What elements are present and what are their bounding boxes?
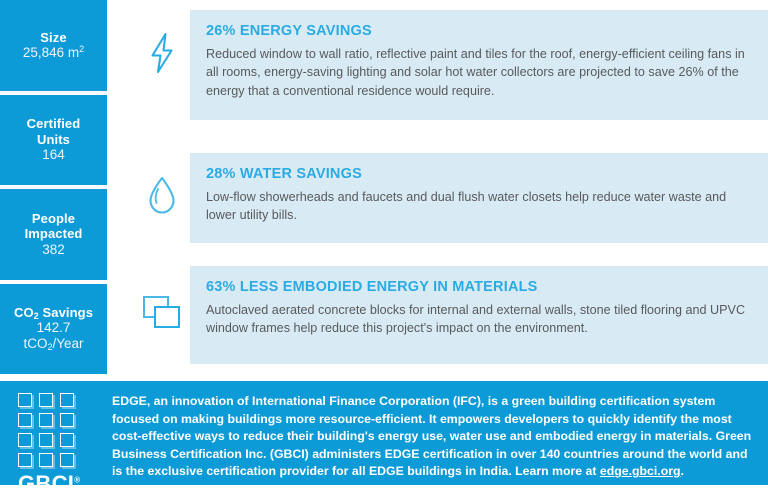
stat-value-size-base: 25,846 m bbox=[23, 45, 79, 60]
stat-tile-people-impacted: People Impacted 382 bbox=[0, 189, 107, 280]
stat-unit-co2-subscript: 2 bbox=[47, 342, 52, 352]
stat-tile-co2-savings: CO2 Savings 142.7 tCO2/Year bbox=[0, 284, 107, 375]
stat-label-co2-subscript: 2 bbox=[34, 311, 39, 321]
stat-value-size: 25,846 m2 bbox=[23, 45, 84, 61]
feature-title-water: 28% WATER SAVINGS bbox=[206, 166, 752, 182]
stat-label-co2-suffix: Savings bbox=[39, 305, 93, 320]
stacked-blocks-icon bbox=[133, 266, 190, 334]
stat-unit-co2-savings: tCO2/Year bbox=[23, 336, 83, 352]
stat-label-co2-savings: CO2 Savings bbox=[14, 305, 93, 320]
logo-cell bbox=[18, 453, 32, 467]
stat-value-people-impacted: 382 bbox=[42, 242, 65, 258]
logo-cell bbox=[39, 393, 53, 407]
feature-body-materials: Autoclaved aerated concrete blocks for i… bbox=[206, 301, 752, 338]
feature-list: 26% ENERGY SAVINGS Reduced window to wal… bbox=[133, 10, 768, 370]
logo-cell bbox=[60, 393, 74, 407]
logo-cell bbox=[18, 433, 32, 447]
logo-cell bbox=[60, 413, 74, 427]
feature-title-energy: 26% ENERGY SAVINGS bbox=[206, 23, 752, 39]
edge-gbci-org-link[interactable]: edge.gbci.org bbox=[600, 464, 681, 478]
feature-panel-water: 28% WATER SAVINGS Low-flow showerheads a… bbox=[190, 153, 768, 243]
logo-cell bbox=[39, 453, 53, 467]
edge-certification-infographic: Size 25,846 m2 Certified Units 164 Peopl… bbox=[0, 0, 768, 485]
stat-label-size: Size bbox=[40, 30, 66, 45]
stat-unit-co2-suffix: /Year bbox=[53, 336, 84, 351]
logo-cell bbox=[60, 453, 74, 467]
gbci-wordmark-text: GBCI bbox=[18, 471, 74, 496]
stat-label-certified-units-line2: Units bbox=[37, 132, 70, 147]
stat-label-certified-units-line1: Certified bbox=[27, 116, 81, 131]
stat-label-people-impacted-line2: Impacted bbox=[25, 226, 83, 241]
logo-cell bbox=[39, 433, 53, 447]
logo-cell bbox=[60, 433, 74, 447]
footer-description: EDGE, an innovation of International Fin… bbox=[112, 381, 768, 481]
gbci-logo-grid-icon bbox=[18, 393, 112, 469]
stats-sidebar: Size 25,846 m2 Certified Units 164 Peopl… bbox=[0, 0, 107, 374]
feature-panel-materials: 63% LESS EMBODIED ENERGY IN MATERIALS Au… bbox=[190, 266, 768, 364]
footer-banner: GBCI® EDGE, an innovation of Internation… bbox=[0, 381, 768, 485]
gbci-trademark-symbol: ® bbox=[74, 476, 80, 485]
logo-cell bbox=[18, 393, 32, 407]
stat-tile-size: Size 25,846 m2 bbox=[0, 0, 107, 91]
water-drop-icon bbox=[133, 153, 190, 217]
footer-description-part2: . bbox=[681, 464, 684, 478]
logo-cell bbox=[18, 413, 32, 427]
stat-value-co2-savings: 142.7 bbox=[37, 320, 71, 336]
feature-row-energy: 26% ENERGY SAVINGS Reduced window to wal… bbox=[133, 10, 768, 120]
stat-value-certified-units: 164 bbox=[42, 147, 65, 163]
stat-label-people-impacted-line1: People bbox=[32, 211, 75, 226]
stat-unit-co2-prefix: tCO bbox=[23, 336, 47, 351]
gbci-wordmark: GBCI® bbox=[18, 473, 112, 495]
feature-row-materials: 63% LESS EMBODIED ENERGY IN MATERIALS Au… bbox=[133, 266, 768, 364]
lightning-bolt-icon bbox=[133, 10, 190, 74]
feature-body-energy: Reduced window to wall ratio, reflective… bbox=[206, 45, 752, 100]
stat-value-size-superscript: 2 bbox=[79, 44, 84, 54]
gbci-logo: GBCI® bbox=[0, 381, 112, 495]
feature-panel-energy: 26% ENERGY SAVINGS Reduced window to wal… bbox=[190, 10, 768, 120]
stat-label-co2-prefix: CO bbox=[14, 305, 34, 320]
feature-title-materials: 63% LESS EMBODIED ENERGY IN MATERIALS bbox=[206, 279, 752, 295]
feature-body-water: Low-flow showerheads and faucets and dua… bbox=[206, 188, 752, 225]
logo-cell bbox=[39, 413, 53, 427]
feature-row-water: 28% WATER SAVINGS Low-flow showerheads a… bbox=[133, 153, 768, 243]
stat-tile-certified-units: Certified Units 164 bbox=[0, 95, 107, 186]
